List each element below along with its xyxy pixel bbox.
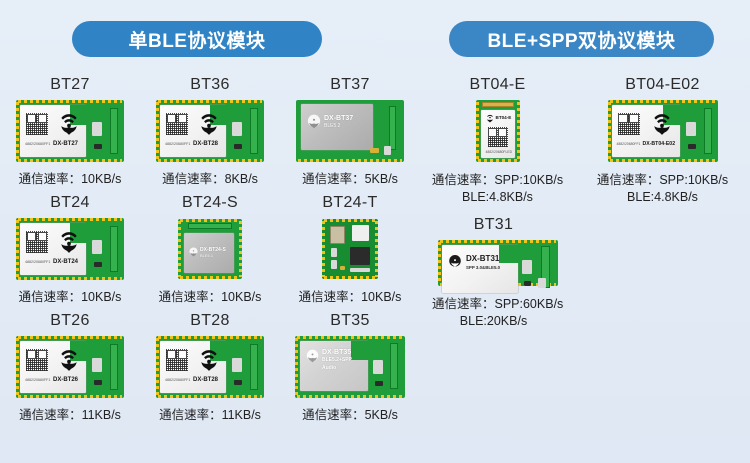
module-card-bt36[interactable]: BT36 [140,72,280,190]
module-speed-caption: 通信速率：10KB/s [159,289,262,306]
pad-row-top [610,100,716,103]
header-pill-ble-only-label: 单BLE协议模块 [128,26,265,53]
crystal-component [330,226,345,244]
antenna-strip [250,108,258,154]
rf-pad [352,225,369,241]
bat-wifi-logo-icon [198,348,220,372]
shield-can: DX-BT24-S BLE5.1 [184,233,234,273]
antenna-strip [250,344,258,390]
bat-wifi-logo-icon [58,230,80,254]
pad-strip [350,268,370,272]
speed-spp: 通信速率：SPP:10KB/s [432,173,563,187]
module-row: BT26 [0,308,420,426]
shield-can: 4882/20680FF1 DX-BT26 [20,341,86,393]
smd-component [94,144,102,149]
shield-can: 4882/20680FF1 DX-BT28 [160,341,226,393]
speed-ble: BLE:4.8KB/s [597,189,728,206]
module-card-bt24-s[interactable]: BT24-S DX-BT24-S [140,190,280,308]
speed-ble: BLE:4.8KB/s [432,189,563,206]
bat-wifi-logo-icon [58,348,80,372]
bat-wifi-logo-icon [486,114,494,123]
module-card-bt26[interactable]: BT26 [0,308,140,426]
ble-only-module-grid: BT27 [0,72,420,426]
smd-component [340,266,345,270]
module-title: BT24 [50,190,89,216]
pad-row-left [322,221,325,277]
module-image-bt04-e: BT04-E 4882/20680FLED [476,100,520,162]
shield-silk-model: DX-BT04-E02 [643,142,676,147]
bat-wifi-logo-icon [198,112,220,136]
module-row: BT31 DX-BT31 SP [420,212,750,330]
module-speed-caption: 通信速率：10KB/s [19,289,122,306]
antenna-strip [110,344,118,390]
pad-row-right [517,102,520,160]
smd-pad [92,358,102,372]
qr-code [488,127,508,147]
shield-silk-code: 4882/20680FF1 [165,379,190,383]
smd-component [370,148,379,153]
smd-pad [232,358,242,372]
smd-pad [384,146,391,155]
smd-component [688,144,696,149]
module-row: BT24 [0,190,420,308]
pad-row-left [608,102,611,160]
shield-silk-model: DX-BT26 [53,377,78,383]
module-image-bt26: 4882/20680FF1 DX-BT26 [16,336,124,398]
shield-silk-sub: BLE5.1 [200,254,213,258]
shield-silk-sub: BLE5.2 [324,124,340,129]
smd-pad [92,122,102,136]
module-title: BT31 [432,212,595,238]
pad-row-top [18,100,122,103]
smd-component [234,380,242,385]
bat-wifi-logo-icon [306,349,319,363]
qr-code [26,231,48,253]
qr-code [26,349,48,371]
shield-notch [499,245,519,263]
pad-row-top [18,336,122,339]
smd-pad [538,278,546,288]
pad-row-left [16,220,19,278]
shield-can: DX-BT37 BLE5.2 [301,104,373,150]
speed-spp: 通信速率：SPP:60KB/s [432,297,563,311]
pad-row-left [156,338,159,396]
module-title: BT24-S [182,190,238,216]
bat-wifi-logo-icon [448,254,462,269]
bat-wifi-logo-icon [307,114,321,129]
smd-pad [331,248,337,257]
smd-pad [92,240,102,254]
antenna-strip [704,108,712,154]
shield-silk-model: DX-BT35 [322,349,351,356]
smd-component [94,380,102,385]
module-card-bt35[interactable]: BT35 DX-BT35 BL [280,308,420,426]
module-title: BT37 [330,72,369,98]
antenna-strip [389,106,396,150]
pad-row-right [375,221,378,277]
module-image-bt27: 4882/20680FF1 DX-BT27 [16,100,124,162]
module-card-bt28[interactable]: BT28 [140,308,280,426]
speed-ble: BLE:20KB/s [432,313,555,330]
smd-component [94,262,102,267]
pad-row-top [180,219,240,222]
antenna-strip [482,102,514,107]
shield-silk-model: DX-BT27 [53,141,78,147]
shield-silk-sub2: Audio [322,366,336,371]
pad-row-bottom [298,159,402,162]
pad-row-bottom [297,395,403,398]
shield-silk-model: DX-BT28 [193,377,218,383]
pad-row-bottom [478,159,518,162]
ble-spp-module-grid: BT04-E BT04-E 4 [420,72,750,330]
shield-can: BT04-E 4882/20680FLED [481,110,515,158]
module-speed-caption: 通信速率：SPP:10KB/s BLE:4.8KB/s [597,172,728,206]
qr-code [166,349,188,371]
pad-row-top [18,218,122,221]
shield-silk-model: DX-BT37 [324,115,353,122]
speed-spp: 通信速率：SPP:10KB/s [597,173,728,187]
pad-row-bottom [180,276,240,279]
pad-row-top [324,219,376,222]
module-speed-caption: 通信速率：SPP:10KB/s BLE:4.8KB/s [432,172,563,206]
pad-row-bottom [324,276,376,279]
module-title: BT36 [190,72,229,98]
shield-can: 4882/20680FF1 DX-BT24 [20,223,86,275]
module-speed-caption: 通信速率：8KB/s [162,171,258,188]
module-image-bt24: 4882/20680FF1 DX-BT24 [16,218,124,280]
shield-can: 4882/20680FF1 DX-BT28 [160,105,226,157]
antenna-strip [390,343,398,389]
smd-pad [686,122,696,136]
module-card-bt27[interactable]: BT27 [0,72,140,190]
ic-chip [350,247,370,265]
header-bar: 单BLE协议模块 BLE+SPP双协议模块 [0,21,750,65]
pad-row-top [297,336,403,339]
header-pill-ble-only: 单BLE协议模块 [72,21,322,57]
qr-code [26,113,48,135]
module-row: BT27 [0,72,420,190]
module-speed-caption: 通信速率：10KB/s [299,289,402,306]
module-title: BT27 [50,72,89,98]
module-title: BT24-T [322,190,377,216]
module-title: BT28 [190,308,229,334]
smd-component [375,381,383,386]
smd-component [524,281,531,286]
bat-wifi-logo-icon [189,247,198,257]
module-image-bt24-s: DX-BT24-S BLE5.1 [178,219,242,279]
shield-silk-model: DX-BT28 [193,141,218,147]
module-image-bt36: 4882/20680FF1 DX-BT28 [156,100,264,162]
shield-silk-code: 4882/20680FF1 [617,143,641,147]
shield-silk-code: 4882/20680FF1 [165,143,190,147]
smd-pad [373,360,383,374]
module-image-bt24-t [322,219,378,279]
module-row: BT04-E BT04-E 4 [420,72,750,212]
pad-row-bottom [158,395,262,398]
pad-row-top [440,240,556,243]
module-card-bt04-e02[interactable]: BT04-E02 [575,72,750,212]
module-title: BT04-E02 [625,72,699,98]
module-title: BT26 [50,308,89,334]
pad-row-bottom [158,159,262,162]
module-image-bt28: 4882/20680FF1 DX-BT28 [156,336,264,398]
shield-silk-model: DX-BT24 [53,259,78,265]
antenna-strip [110,108,118,154]
header-pill-ble-spp: BLE+SPP双协议模块 [449,21,714,57]
module-speed-caption: 通信速率：11KB/s [159,407,261,424]
pad-row-bottom [18,277,122,280]
module-card-bt24[interactable]: BT24 [0,190,140,308]
module-card-bt04-e[interactable]: BT04-E BT04-E 4 [420,72,575,212]
bat-wifi-logo-icon [58,112,80,136]
antenna-strip [110,226,118,272]
shield-can: 4882/20680FF1 DX-BT27 [20,105,86,157]
antenna-strip [188,223,232,229]
pad-row-left [476,102,479,160]
module-speed-caption: 通信速率：11KB/s [19,407,121,424]
module-speed-caption: 通信速率：SPP:60KB/s BLE:20KB/s [432,296,595,330]
pad-row-left [438,242,441,284]
pad-row-right [239,221,242,277]
shield-can: DX-BT31 SPP 3.0&BLE5.0 [442,245,518,293]
shield-can: 4882/20680FF1 DX-BT04-E02 [612,105,680,157]
pad-row-left [178,221,181,277]
pad-row-bottom [610,159,716,162]
shield-silk-code: 4882/20680FF1 [25,379,50,383]
module-title: BT35 [330,308,369,334]
module-image-bt35: DX-BT35 BLE5.2+SPP Audio [295,336,405,398]
pad-row-top [158,100,262,103]
shield-silk-code: 4882/20680FF1 [25,261,50,265]
smd-component [234,144,242,149]
shield-notch [351,341,369,360]
shield-silk-model: DX-BT31 [466,255,499,263]
bat-wifi-logo-icon [651,112,673,136]
module-card-bt31[interactable]: BT31 DX-BT31 SP [420,212,595,330]
qr-code [166,113,188,135]
shield-silk-model: BT04-E [496,116,512,121]
pad-row-left [156,102,159,160]
module-speed-caption: 通信速率：5KB/s [302,407,398,424]
module-card-bt24-t[interactable]: BT24-T 通信速率：10KB/s [280,190,420,308]
module-speed-caption: 通信速率：5KB/s [302,171,398,188]
pad-row-left [16,338,19,396]
pad-row-left [295,338,298,396]
shield-silk-sub: BLE5.2+SPP [322,358,352,363]
shield-silk-code: 4882/20680FF1 [25,143,50,147]
pad-row-bottom [18,395,122,398]
header-pill-ble-spp-label: BLE+SPP双协议模块 [487,26,675,53]
pad-row-bottom [18,159,122,162]
shield-can: DX-BT35 BLE5.2+SPP Audio [300,341,368,391]
module-image-bt31: DX-BT31 SPP 3.0&BLE5.0 [438,240,558,286]
shield-silk-sub: SPP 3.0&BLE5.0 [466,266,500,271]
module-card-bt37[interactable]: BT37 DX-BT37 BLE5.2 [280,72,420,190]
module-image-bt37: DX-BT37 BLE5.2 [296,100,404,162]
module-image-bt04-e02: 4882/20680FF1 DX-BT04-E02 [608,100,718,162]
qr-code [618,113,640,135]
pad-row-top [158,336,262,339]
smd-pad [331,260,337,269]
smd-pad [522,260,532,274]
smd-pad [232,122,242,136]
module-title: BT04-E [469,72,525,98]
pad-row-left [16,102,19,160]
shield-silk-code: 4882/20680FLED [486,151,513,155]
module-speed-caption: 通信速率：10KB/s [19,171,122,188]
